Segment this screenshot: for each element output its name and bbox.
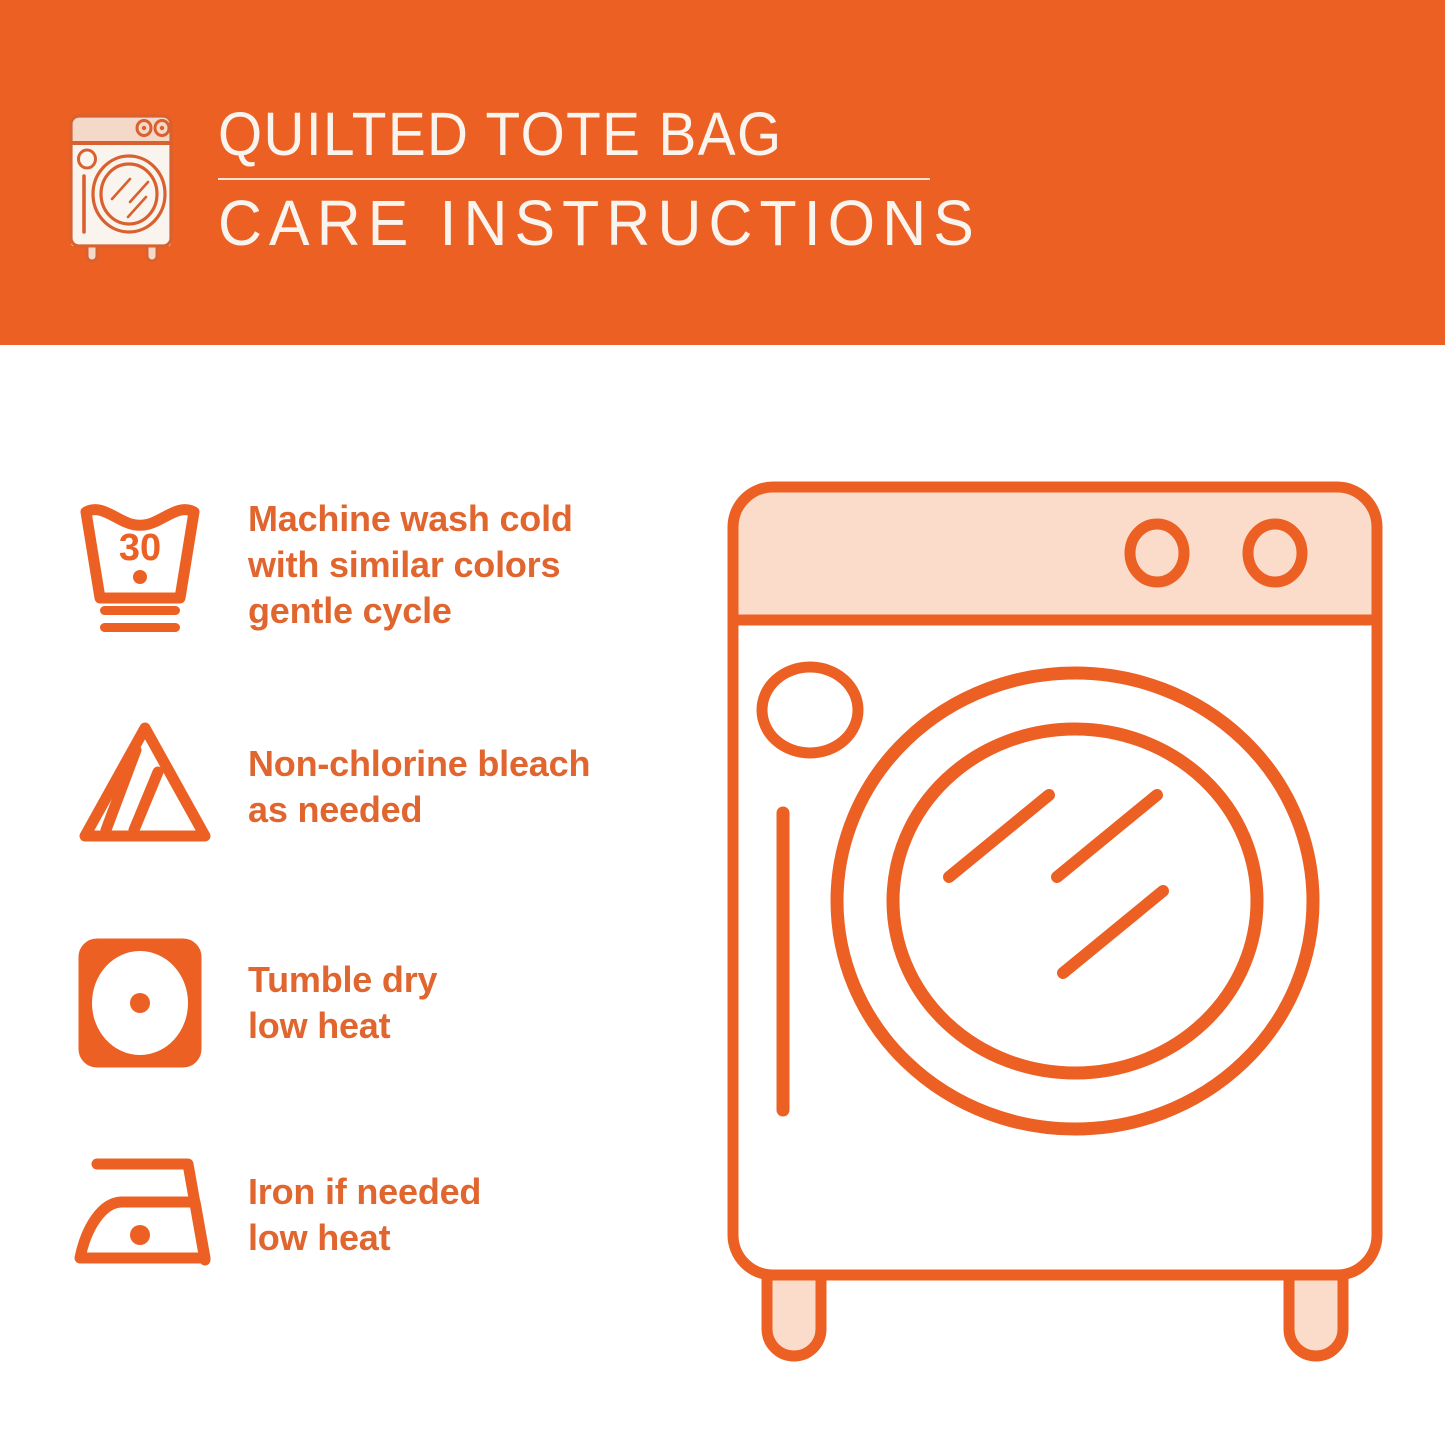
tumble-dry-heat-dot	[130, 993, 150, 1013]
care-row-iron: Iron if needed low heat	[70, 1135, 670, 1295]
care-text-bleach-line2: as needed	[248, 787, 590, 833]
care-text-wash-line3: gentle cycle	[248, 588, 573, 634]
header-title-group: QUILTED TOTE BAG CARE INSTRUCTIONS	[218, 100, 1021, 255]
leg-left	[767, 1275, 821, 1356]
care-row-tumble-dry: Tumble dry low heat	[70, 923, 670, 1083]
control-panel	[733, 487, 1377, 623]
care-text-wash-line1: Machine wash cold	[248, 496, 573, 542]
care-text-tumble-dry: Tumble dry low heat	[248, 957, 437, 1049]
care-text-bleach: Non-chlorine bleach as needed	[248, 741, 590, 833]
page-title: QUILTED TOTE BAG	[218, 104, 965, 165]
iron-low-heat-symbol	[70, 1135, 230, 1295]
care-instructions-list: 30 Machine wash cold with similar colors…	[0, 345, 700, 1445]
machine-wash-cold-symbol: 30	[70, 485, 230, 645]
iron-heat-dot	[130, 1225, 150, 1245]
header-content: QUILTED TOTE BAG CARE INSTRUCTIONS	[62, 100, 1021, 264]
wash-temperature-label: 30	[119, 527, 161, 569]
page-subtitle: CARE INSTRUCTIONS	[218, 191, 981, 255]
washing-machine-illustration	[705, 465, 1405, 1375]
care-text-dry-line2: low heat	[248, 1003, 437, 1049]
care-text-dry-line1: Tumble dry	[248, 957, 437, 1003]
washing-machine-icon	[62, 104, 180, 264]
care-text-iron-line1: Iron if needed	[248, 1169, 481, 1215]
care-row-wash: 30 Machine wash cold with similar colors…	[70, 485, 670, 645]
leg-right	[1289, 1275, 1343, 1356]
tumble-dry-low-symbol	[70, 923, 230, 1083]
care-text-wash-line2: with similar colors	[248, 542, 573, 588]
care-text-iron-line2: low heat	[248, 1215, 481, 1261]
care-text-bleach-line1: Non-chlorine bleach	[248, 741, 590, 787]
non-chlorine-bleach-symbol	[70, 707, 230, 867]
care-text-iron: Iron if needed low heat	[248, 1169, 481, 1261]
title-divider	[218, 178, 930, 180]
care-text-wash: Machine wash cold with similar colors ge…	[248, 496, 573, 634]
wash-dot	[133, 570, 147, 584]
care-row-bleach: Non-chlorine bleach as needed	[70, 707, 670, 867]
header-banner: QUILTED TOTE BAG CARE INSTRUCTIONS	[0, 0, 1445, 345]
